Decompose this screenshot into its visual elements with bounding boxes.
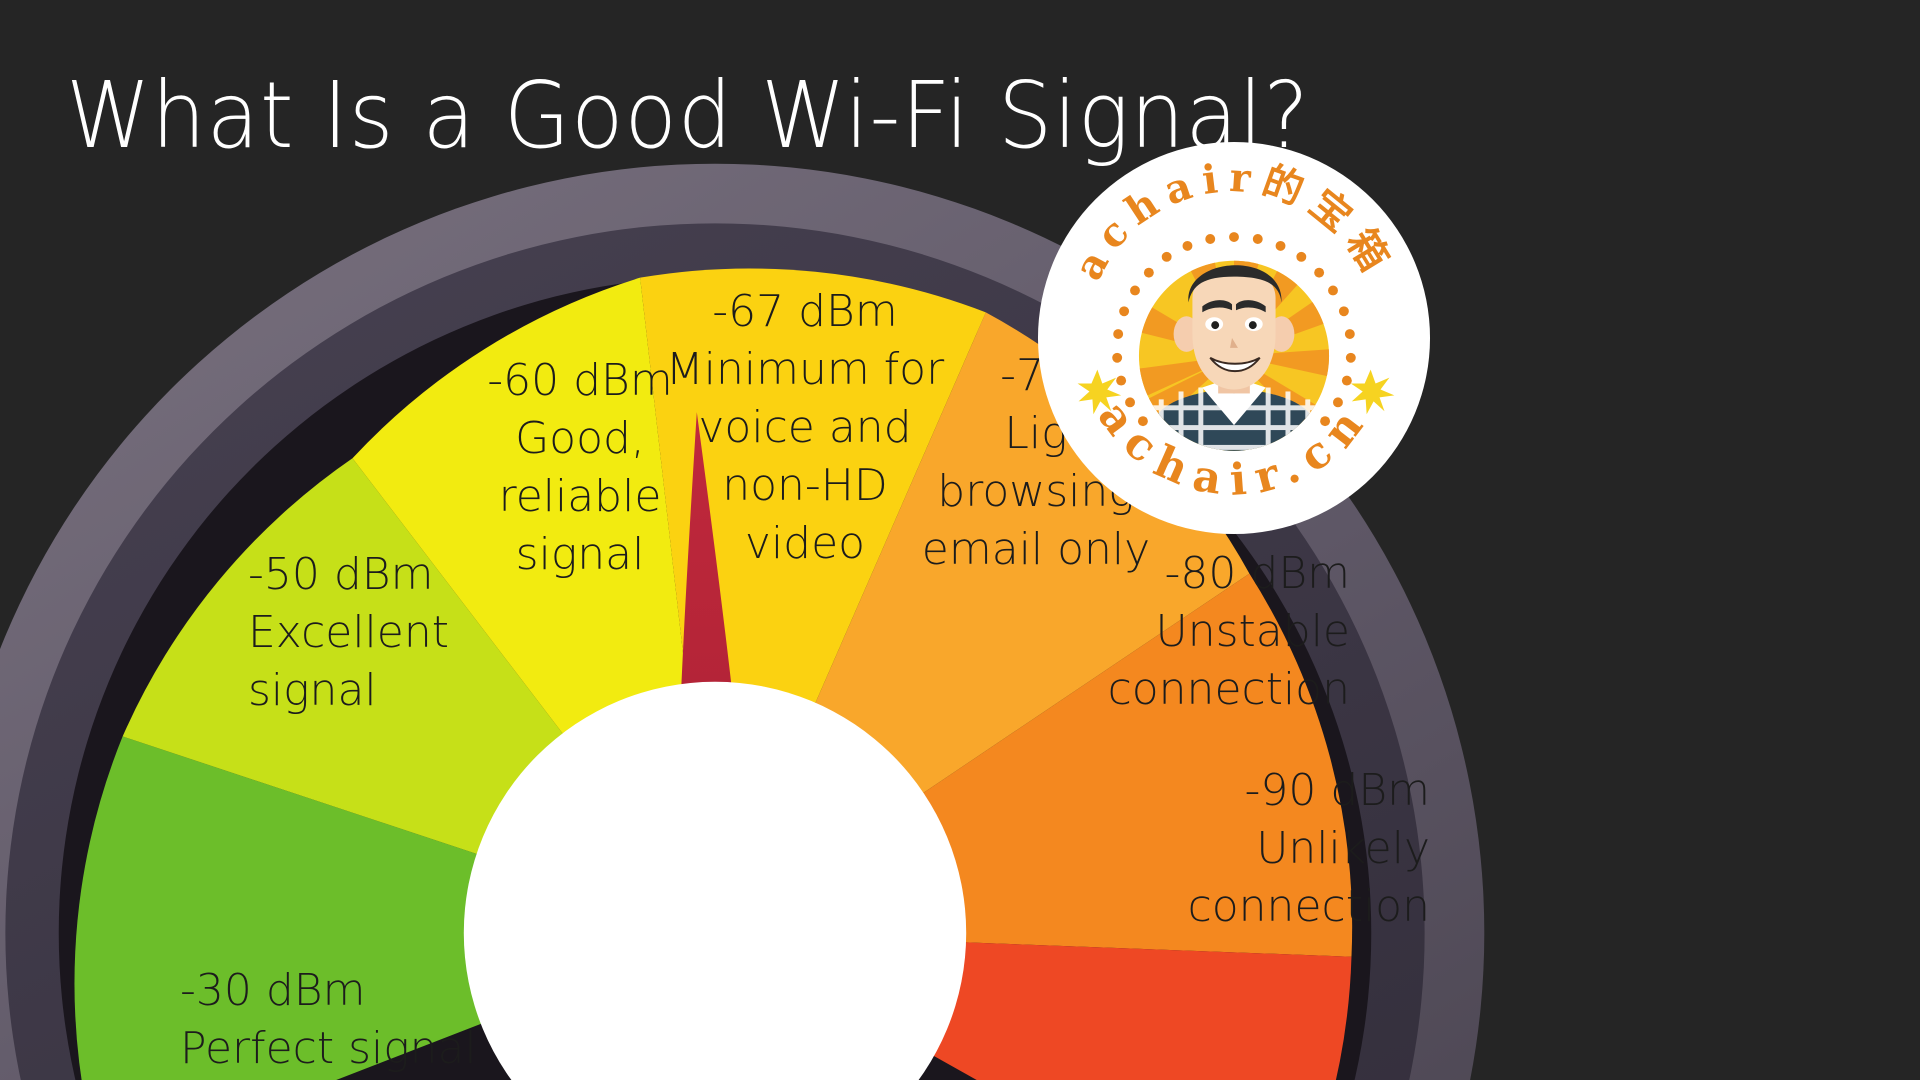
achair-logo-watermark[interactable]: achair的宝箱 achair.cn bbox=[1036, 140, 1432, 536]
infographic-canvas: -30 dBm Perfect signal -50 dBm Excellent… bbox=[0, 0, 1920, 1080]
